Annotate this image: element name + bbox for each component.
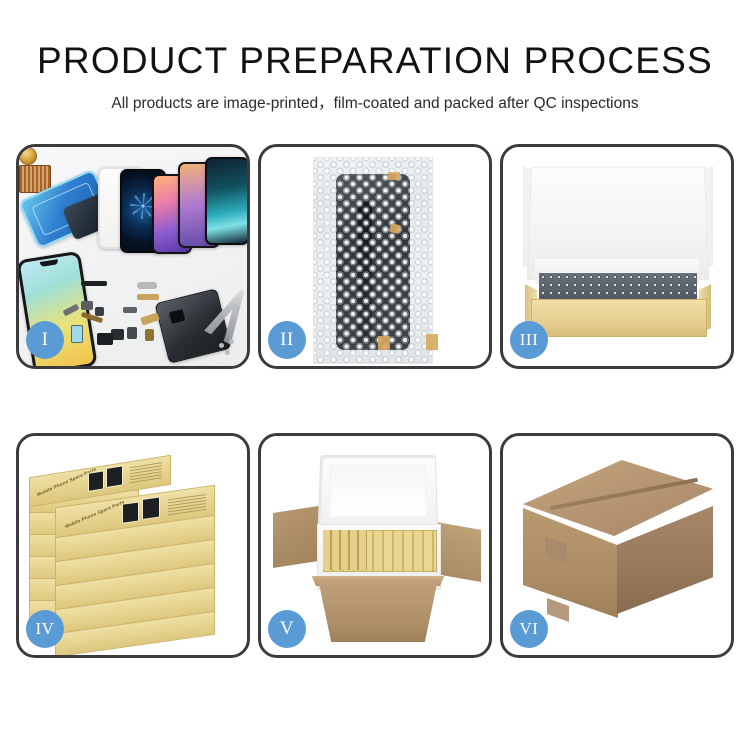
process-steps-grid: I II	[16, 144, 734, 684]
bubble-texture	[314, 158, 432, 363]
box-front-panel	[531, 299, 707, 337]
tape-piece	[388, 172, 400, 180]
step-badge-6: VI	[510, 610, 548, 648]
step-badge-1: I	[26, 321, 64, 359]
page-subtitle: All products are image-printed，film-coat…	[111, 91, 638, 113]
spare-part	[71, 325, 83, 343]
screw-part	[219, 343, 224, 348]
box-spec-lines	[130, 461, 162, 483]
step-badge-2: II	[268, 321, 306, 359]
box-screen-graphic	[122, 501, 139, 523]
phone-back-housing	[154, 288, 231, 364]
spare-part	[81, 281, 107, 286]
box-label-text: Mobile Phone Spare Parts	[65, 499, 125, 529]
spare-part	[140, 312, 160, 325]
page-title: PRODUCT PREPARATION PROCESS	[37, 40, 713, 82]
header: PRODUCT PREPARATION PROCESS All products…	[0, 0, 750, 128]
step-panel-5: V	[258, 433, 492, 658]
screw-part	[229, 339, 234, 344]
spare-part	[127, 327, 137, 339]
product-preparation-infographic: PRODUCT PREPARATION PROCESS All products…	[0, 0, 750, 750]
vibration-motor-part	[19, 147, 37, 165]
box-stack: Mobile Phone Spare Parts Mobile Phone Sp…	[29, 454, 239, 644]
step-panel-1: I	[16, 144, 250, 369]
screw-part	[225, 350, 230, 355]
spare-part	[123, 307, 137, 313]
spare-part	[95, 307, 104, 316]
teal-wave-phone	[205, 157, 247, 245]
carton-front-panel	[313, 580, 443, 642]
box-screen-graphic	[88, 470, 104, 492]
bubble-wrap-bag	[313, 157, 433, 364]
yellow-boxes-inside-left	[323, 530, 367, 570]
spare-part	[81, 301, 93, 310]
box-screen-graphic	[142, 496, 160, 520]
spare-part	[145, 329, 154, 341]
box-spec-lines	[168, 492, 206, 515]
tape-piece	[378, 336, 390, 350]
spare-part	[137, 294, 159, 300]
carton-tape	[547, 598, 569, 622]
step-panel-3: III	[500, 144, 734, 369]
box-screen-graphic	[106, 465, 123, 488]
step-badge-5: V	[268, 610, 306, 648]
spare-part	[137, 282, 157, 289]
step-badge-3: III	[510, 321, 548, 359]
foam-lid	[318, 455, 439, 528]
spare-part	[97, 333, 113, 345]
step-panel-6: VI	[500, 433, 734, 658]
step-badge-4: IV	[26, 610, 64, 648]
step-panel-4: Mobile Phone Spare Parts Mobile Phone Sp…	[16, 433, 250, 658]
step-panel-2: II	[258, 144, 492, 369]
tape-piece	[426, 334, 438, 350]
